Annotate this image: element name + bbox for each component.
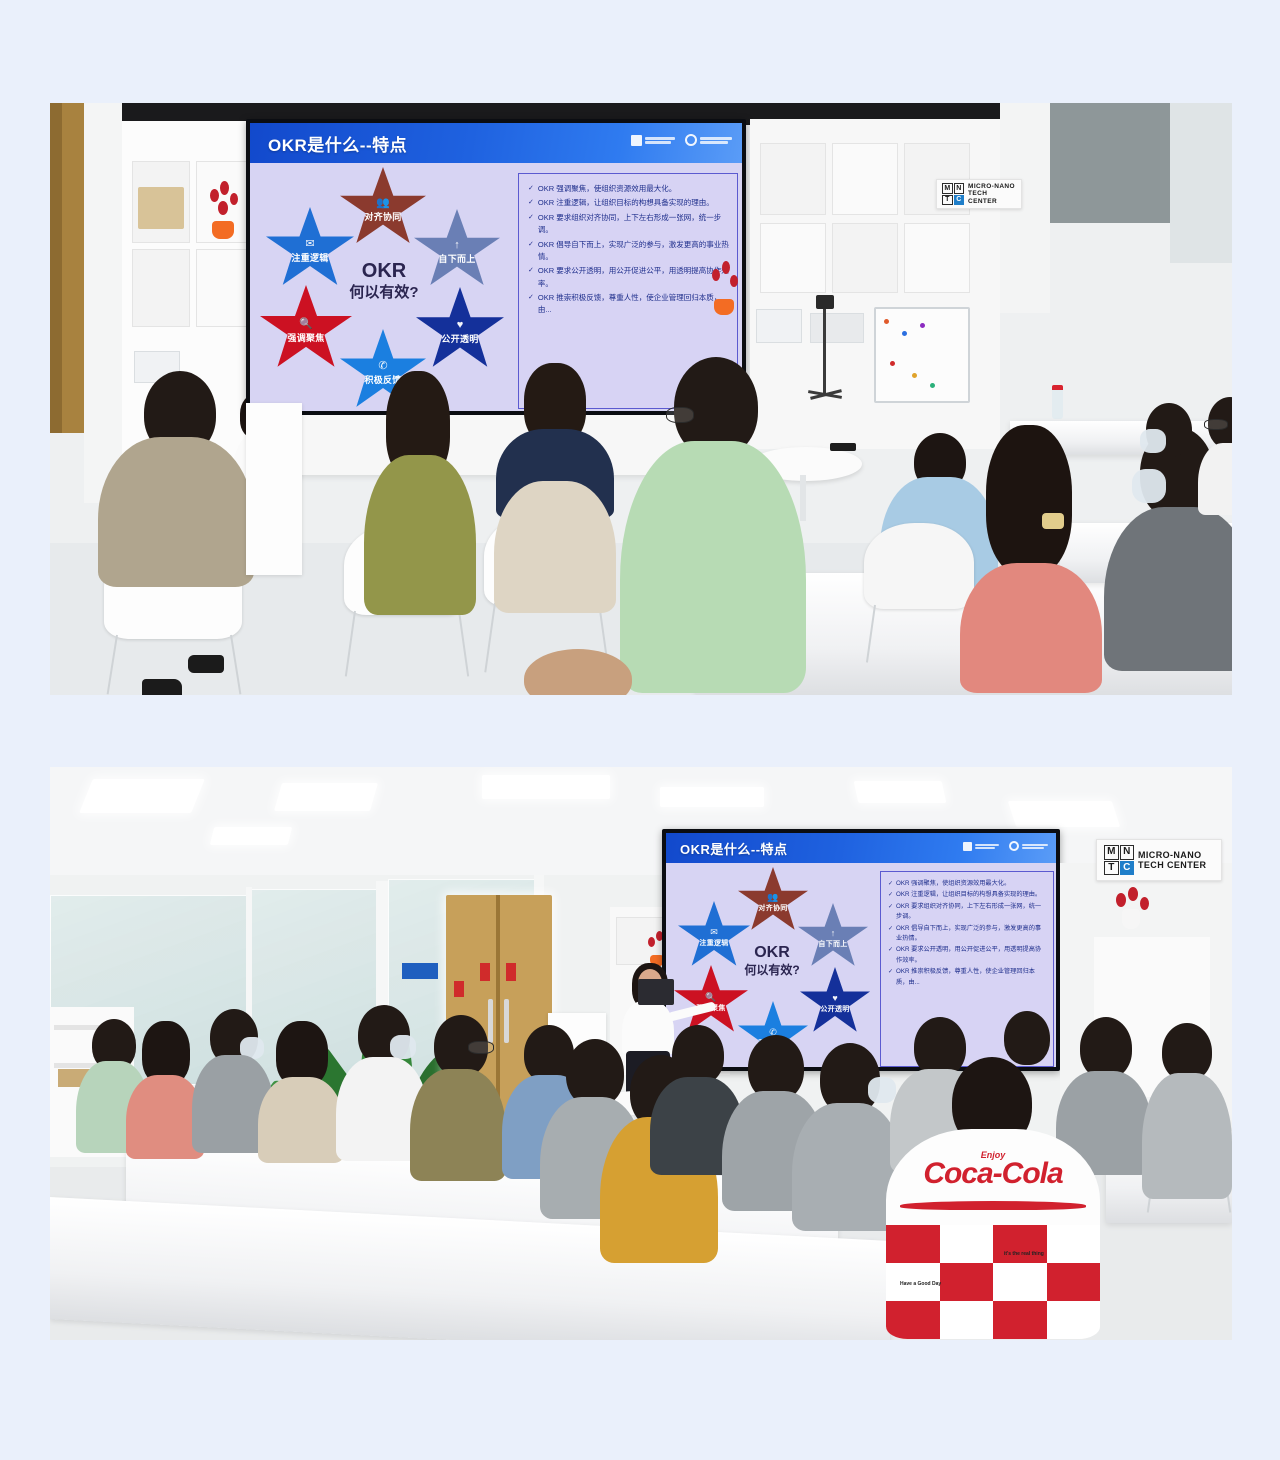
micro-nano-tech-center-sign: M N T C MICRO-NANO TECH CENTER xyxy=(936,179,1022,209)
head xyxy=(524,649,632,695)
window-dark xyxy=(1050,103,1170,223)
flower-pot-orange xyxy=(714,299,734,315)
fire-notice-sign xyxy=(480,963,490,981)
slide-header: OKR是什么--特点 xyxy=(250,123,742,163)
star-label: 对齐协同 xyxy=(758,903,787,913)
head xyxy=(672,1025,724,1085)
shelf-cell xyxy=(760,223,826,293)
check-icon: ✓ xyxy=(888,879,893,889)
check-icon: ✓ xyxy=(528,239,534,251)
envelope-icon: ✉ xyxy=(710,928,718,937)
ceiling-light xyxy=(482,775,610,799)
star-align-collaborate: 👥 对齐协同 xyxy=(738,867,808,933)
ceiling-light xyxy=(274,783,378,811)
hair-clip xyxy=(1042,513,1064,529)
jacket-body: Enjoy Coca-Cola Have a Good Day it's the… xyxy=(886,1129,1100,1339)
shelf-cell xyxy=(132,249,190,327)
red-flower xyxy=(1116,893,1126,907)
attendee-white-shirt xyxy=(1198,397,1232,493)
red-flower xyxy=(722,261,730,274)
bullet-item: ✓ OKR 倡导自下而上，实现广泛的参与，激发更高的事业热情。 xyxy=(888,924,1047,945)
mntc-line2: TECH CENTER xyxy=(968,190,1016,205)
ceiling-light xyxy=(79,779,205,813)
shoe xyxy=(188,655,224,673)
check-icon: ✓ xyxy=(528,292,534,304)
exit-sign xyxy=(402,963,438,979)
red-flower xyxy=(648,937,655,947)
cola-brand-text: Coca-Cola xyxy=(896,1159,1090,1189)
mntc-letter-c: C xyxy=(1120,861,1135,876)
attendee-foreground-head xyxy=(496,649,656,695)
mntc-sign-text: MICRO-NANO TECH CENTER xyxy=(968,183,1016,205)
bionano-lab-logo xyxy=(685,134,732,146)
okr-center-line2: 何以有效? xyxy=(722,963,822,978)
glasses-icon xyxy=(666,407,694,423)
cola-slogan-1: Have a Good Day xyxy=(900,1281,941,1287)
bullet-text: OKR 要求公开透明，用公开促进公平，用透明提高协作效率。 xyxy=(896,945,1047,966)
mntc-mark-icon xyxy=(963,842,972,851)
okr-center-line1: OKR xyxy=(722,943,822,963)
mntc-letter-n: N xyxy=(954,183,965,194)
whiteboard xyxy=(874,307,970,403)
mntc-mark-icon xyxy=(631,135,642,146)
mntc-letter-c: C xyxy=(954,195,965,206)
shoe xyxy=(142,679,182,695)
shelf-cell xyxy=(760,143,826,215)
shelf-cell xyxy=(904,223,970,293)
head xyxy=(1004,1011,1050,1065)
magazine xyxy=(810,313,864,343)
ceiling-light xyxy=(1008,801,1120,827)
okr-center-label: OKR 何以有效? xyxy=(722,943,822,978)
magnet xyxy=(920,323,925,328)
envelope-icon: ✉ xyxy=(305,239,314,250)
bionano-logo-text xyxy=(700,137,732,144)
red-flower xyxy=(218,201,228,215)
bullet-item: ✓ OKR 注重逻辑，让组织目标的构想具备实现的理由。 xyxy=(528,197,729,209)
mntc-letter-m: M xyxy=(942,183,953,194)
attendee-beige xyxy=(258,1021,344,1163)
mntc-line2: TECH CENTER xyxy=(1138,860,1206,870)
glasses-icon xyxy=(1204,419,1228,430)
photo-seminar-closeup: OKR是什么--特点 xyxy=(50,103,1232,695)
body xyxy=(258,1077,344,1163)
red-flower xyxy=(210,189,219,202)
magnet xyxy=(902,331,907,336)
red-flower xyxy=(1140,897,1149,910)
body xyxy=(1198,443,1232,515)
mntc-sign-text: MICRO-NANO TECH CENTER xyxy=(1138,850,1206,870)
body xyxy=(1142,1073,1232,1199)
ceiling-light xyxy=(660,787,764,807)
remote-control xyxy=(830,443,856,451)
bullet-text: OKR 注重逻辑，让组织目标的构想具备实现的理由。 xyxy=(896,890,1047,900)
flower-pot-orange xyxy=(212,221,234,239)
glasses-icon xyxy=(468,1041,494,1054)
fire-notice-sign xyxy=(454,981,464,997)
check-icon: ✓ xyxy=(528,212,534,224)
page-root: OKR是什么--特点 xyxy=(0,0,1280,1460)
star-align-collaborate: 👥 对齐协同 xyxy=(340,167,426,247)
bullet-item: ✓ OKR 要求公开透明，用公开促进公平，用透明提高协作效率。 xyxy=(888,945,1047,966)
red-flower xyxy=(220,181,229,195)
slide-title: OKR是什么--特点 xyxy=(268,131,407,156)
mntc-logo-mark: M N T C xyxy=(942,183,964,205)
mntc-line1: MICRO-NANO xyxy=(1138,850,1206,860)
magnet xyxy=(930,383,935,388)
people-icon: 👥 xyxy=(376,198,390,209)
shelf-cell xyxy=(832,143,898,215)
heart-icon: ♥ xyxy=(457,320,464,331)
tripod-pole xyxy=(823,309,826,395)
bullet-text: OKR 推崇积极反馈，尊重人性，使企业管理回归本质，由... xyxy=(896,967,1047,988)
bullet-text: OKR 要求组织对齐协同，上下左右形成一张网，统一步调。 xyxy=(896,902,1047,923)
ceiling-light xyxy=(210,827,292,845)
magnet xyxy=(912,373,917,378)
body xyxy=(960,563,1102,693)
camera-head xyxy=(816,295,834,309)
heart-icon: ♥ xyxy=(832,994,837,1003)
star-label: 公开透明 xyxy=(820,1004,849,1014)
micro-nano-tech-center-sign: M N T C MICRO-NANO TECH CENTER xyxy=(1096,839,1222,881)
body xyxy=(494,481,616,613)
star-label: 公开透明 xyxy=(441,332,478,345)
mntc-letter-t: T xyxy=(1104,861,1119,876)
body xyxy=(410,1069,506,1181)
magnifier-icon: 🔍 xyxy=(705,993,716,1002)
check-icon: ✓ xyxy=(888,945,893,955)
check-icon: ✓ xyxy=(888,924,893,934)
bullet-item: ✓ OKR 强调聚焦，使组织资源效用最大化。 xyxy=(888,879,1047,889)
check-icon: ✓ xyxy=(888,967,893,977)
okr-center-label: OKR 何以有效? xyxy=(320,259,448,303)
partition-board xyxy=(246,403,302,575)
red-flower xyxy=(230,193,238,205)
bionano-mark-icon xyxy=(1009,841,1019,851)
mntc-logo-mark: M N T C xyxy=(1104,845,1134,875)
face-mask xyxy=(1140,429,1166,453)
body xyxy=(1104,507,1232,671)
okr-center-line1: OKR xyxy=(320,259,448,284)
attendee-olive-dress xyxy=(360,371,480,621)
arrow-up-icon: ↑ xyxy=(831,929,836,938)
vase-white xyxy=(1122,909,1140,929)
check-icon: ✓ xyxy=(528,197,534,209)
attendee-beige-sweater xyxy=(96,371,256,601)
micro-nano-tech-center-logo xyxy=(631,135,675,146)
attendee-far-right xyxy=(1142,1023,1232,1199)
bullet-text: OKR 要求公开透明，用公开促进公平，用透明提高协作效率。 xyxy=(538,265,729,290)
bullet-text: OKR 倡导自下而上，实现广泛的参与，激发更高的事业热情。 xyxy=(896,924,1047,945)
window-light xyxy=(1170,103,1232,263)
attendee-masked-back xyxy=(1134,403,1204,495)
bionano-lab-logo xyxy=(1009,841,1048,851)
framed-picture xyxy=(756,309,802,343)
attendee-back-head xyxy=(990,1011,1062,1107)
red-flower xyxy=(730,275,738,287)
bullet-item: ✓ OKR 推崇积极反馈，尊重人性，使企业管理回归本质，由... xyxy=(528,292,729,317)
check-icon: ✓ xyxy=(528,183,534,195)
photo-seminar-wide: OKR是什么--特点 xyxy=(50,767,1232,1340)
attendee-coral-shirt xyxy=(960,425,1102,693)
mntc-letter-n: N xyxy=(1120,845,1135,860)
star-label: 强调聚焦 xyxy=(287,331,324,344)
bullet-text: OKR 强调聚焦，使组织资源效用最大化。 xyxy=(896,879,1047,889)
body xyxy=(364,455,476,615)
red-flower xyxy=(712,269,720,281)
laptop xyxy=(638,979,674,1005)
cola-swoosh xyxy=(900,1201,1086,1210)
star-label: 对齐协同 xyxy=(364,210,401,223)
bionano-logo-text xyxy=(1022,844,1048,849)
bionano-mark-icon xyxy=(685,134,697,146)
slide-header: OKR是什么--特点 xyxy=(666,833,1056,863)
mntc-logo-text xyxy=(975,844,999,849)
micro-nano-tech-center-logo xyxy=(963,842,999,851)
people-icon: 👥 xyxy=(767,893,778,902)
attendee-cream-navy xyxy=(494,363,616,613)
magnifier-icon: 🔍 xyxy=(299,319,313,330)
star-label: 自下而上 xyxy=(818,939,847,949)
mntc-line1: MICRO-NANO xyxy=(968,183,1016,190)
okr-center-line2: 何以有效? xyxy=(320,284,448,303)
bullet-text: OKR 强调聚焦，使组织资源效用最大化。 xyxy=(538,183,729,195)
mntc-logo-text xyxy=(645,137,675,144)
bullet-text: OKR 倡导自下而上，实现广泛的参与，激发更高的事业热情。 xyxy=(538,239,729,264)
fire-notice-sign xyxy=(506,963,516,981)
red-flower xyxy=(1128,887,1138,901)
bullet-item: ✓ OKR 倡导自下而上，实现广泛的参与，激发更高的事业热情。 xyxy=(528,239,729,264)
check-icon: ✓ xyxy=(528,265,534,277)
bullet-item: ✓ OKR 注重逻辑，让组织目标的构想具备实现的理由。 xyxy=(888,890,1047,900)
cola-slogan-2: it's the real thing xyxy=(1004,1251,1044,1257)
door-frame-left xyxy=(50,103,62,433)
mntc-letter-t: T xyxy=(942,195,953,206)
attendee-mint-shirt xyxy=(620,357,806,693)
mntc-letter-m: M xyxy=(1104,845,1119,860)
bullet-item: ✓ OKR 要求组织对齐协同，上下左右形成一张网，统一步调。 xyxy=(528,212,729,237)
bullet-item: ✓ OKR 要求公开透明，用公开促进公平，用透明提高协作效率。 xyxy=(528,265,729,290)
slide-header-logos xyxy=(631,134,732,146)
magnet xyxy=(884,319,889,324)
shelf-cell xyxy=(832,223,898,293)
slide-title: OKR是什么--特点 xyxy=(680,839,788,858)
body xyxy=(98,437,254,587)
check-icon: ✓ xyxy=(888,890,893,900)
check-icon: ✓ xyxy=(888,902,893,912)
slide-header-logos xyxy=(963,841,1048,851)
bullet-text: OKR 要求组织对齐协同，上下左右形成一张网，统一步调。 xyxy=(538,212,729,237)
hair xyxy=(986,425,1072,575)
water-bottle xyxy=(1052,385,1063,419)
bullet-item: ✓ OKR 推崇积极反馈，尊重人性，使企业管理回归本质，由... xyxy=(888,967,1047,988)
woven-tray xyxy=(138,187,184,229)
bullet-text: OKR 注重逻辑，让组织目标的构想具备实现的理由。 xyxy=(538,197,729,209)
magnet xyxy=(890,361,895,366)
bullet-item: ✓ OKR 要求组织对齐协同，上下左右形成一张网，统一步调。 xyxy=(888,902,1047,923)
attendee-olive-glasses xyxy=(410,1015,506,1181)
bullet-text: OKR 推崇积极反馈，尊重人性，使企业管理回归本质，由... xyxy=(538,292,729,317)
bullet-item: ✓ OKR 强调聚焦，使组织资源效用最大化。 xyxy=(528,183,729,195)
arrow-up-icon: ↑ xyxy=(454,240,460,251)
ceiling-light xyxy=(854,781,947,803)
